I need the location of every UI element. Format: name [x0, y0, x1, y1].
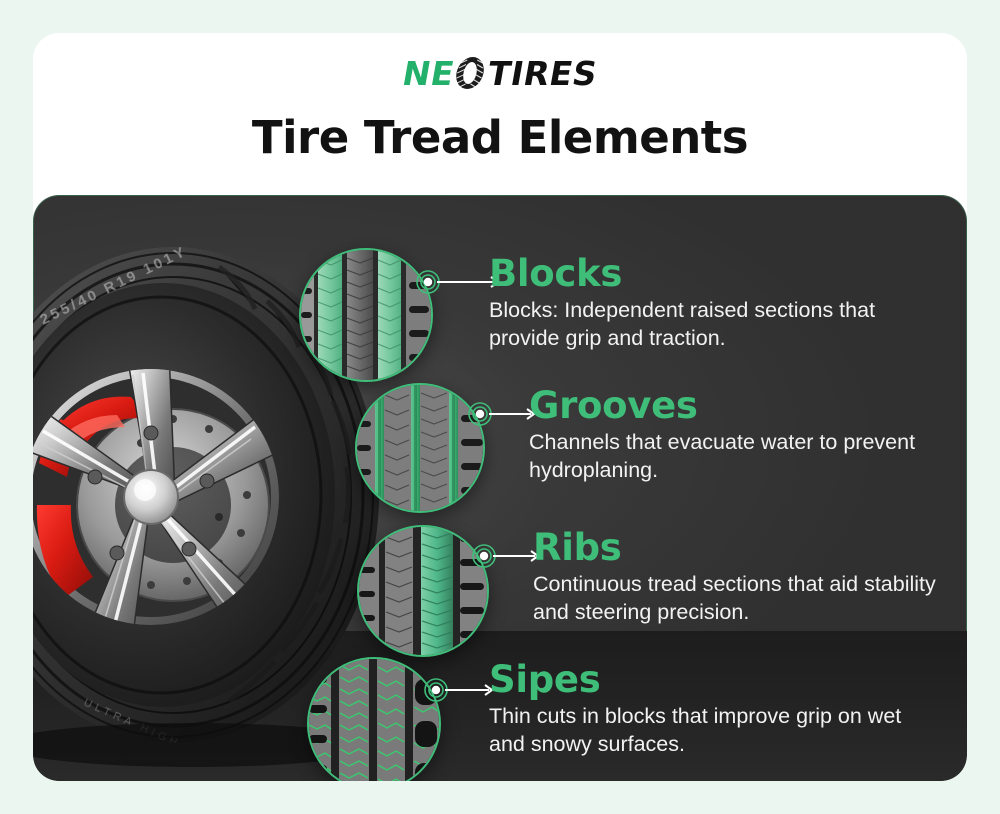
callout-heading-grooves: Grooves: [529, 387, 949, 426]
callout-heading-ribs: Ribs: [533, 529, 953, 568]
callout-description-grooves: Channels that evacuate water to prevent …: [529, 428, 949, 485]
tire-icon: [452, 56, 488, 90]
callout-heading-blocks: Blocks: [489, 255, 909, 294]
callout-ribs: Ribs Continuous tread sections that aid …: [533, 529, 953, 627]
tread-blocks-closeup[interactable]: [299, 248, 433, 382]
content-card: NE TIRES: [33, 33, 967, 781]
tread-sipes-closeup[interactable]: [307, 657, 441, 781]
callout-description-ribs: Continuous tread sections that aid stabi…: [533, 570, 953, 627]
brand-name-part1: NE: [400, 57, 457, 90]
callout-sipes: Sipes Thin cuts in blocks that improve g…: [489, 661, 909, 759]
callout-description-sipes: Thin cuts in blocks that improve grip on…: [489, 702, 909, 759]
illustration-panel: 255/40 R19 101Y ULTRA HIGH PERFORMANCE: [33, 195, 967, 781]
infographic-root: NE TIRES: [0, 0, 1000, 814]
callout-grooves: Grooves Channels that evacuate water to …: [529, 387, 949, 485]
connector-line-blocks: [437, 281, 495, 283]
page-title: Tire Tread Elements: [33, 111, 967, 164]
tread-ribs-closeup[interactable]: [357, 525, 489, 657]
brand-name-part2: TIRES: [485, 57, 600, 90]
callout-blocks: Blocks Blocks: Independent raised sectio…: [489, 255, 909, 353]
brand-logo: NE TIRES: [33, 56, 967, 96]
tread-grooves-closeup[interactable]: [355, 383, 485, 513]
callout-description-blocks: Blocks: Independent raised sections that…: [489, 296, 909, 353]
callout-heading-sipes: Sipes: [489, 661, 909, 700]
